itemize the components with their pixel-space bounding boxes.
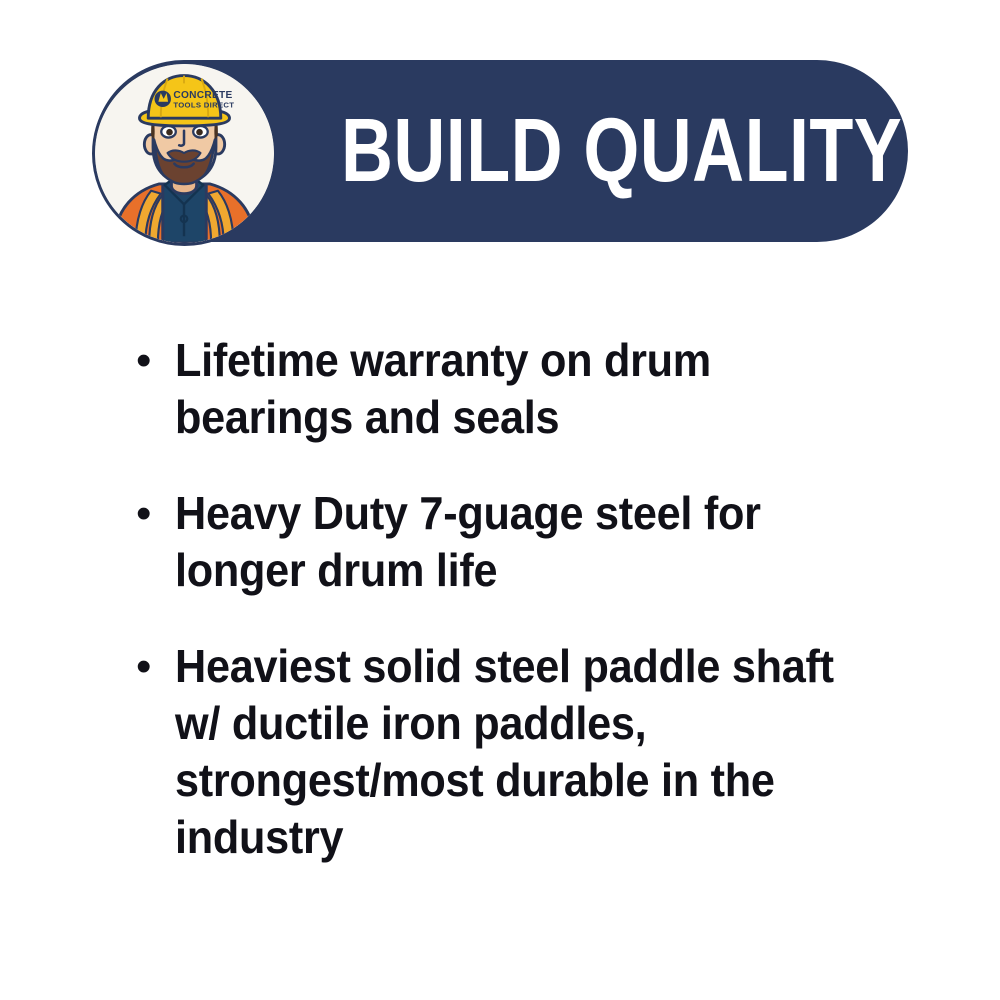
bullet-marker-icon: • <box>130 638 175 695</box>
construction-worker-illustration: CONCRETE TOOLS DIRECT <box>95 64 274 243</box>
svg-text:TOOLS DIRECT: TOOLS DIRECT <box>173 101 234 110</box>
list-item: • Heavy Duty 7-guage steel for longer dr… <box>130 485 930 599</box>
infographic-page: BUILD QUALITY <box>0 0 1000 1000</box>
bullet-text: Heavy Duty 7-guage steel for longer drum… <box>175 485 885 599</box>
avatar: CONCRETE TOOLS DIRECT <box>92 61 277 246</box>
bullet-marker-icon: • <box>130 332 175 389</box>
bullet-text: Lifetime warranty on drum bearings and s… <box>175 332 885 446</box>
list-item: • Heaviest solid steel paddle shaft w/ d… <box>130 638 930 866</box>
bullet-marker-icon: • <box>130 485 175 542</box>
page-title: BUILD QUALITY <box>341 60 902 242</box>
list-item: • Lifetime warranty on drum bearings and… <box>130 332 930 446</box>
svg-text:CONCRETE: CONCRETE <box>173 90 232 101</box>
feature-bullet-list: • Lifetime warranty on drum bearings and… <box>130 332 930 866</box>
bullet-text: Heaviest solid steel paddle shaft w/ duc… <box>175 638 885 866</box>
